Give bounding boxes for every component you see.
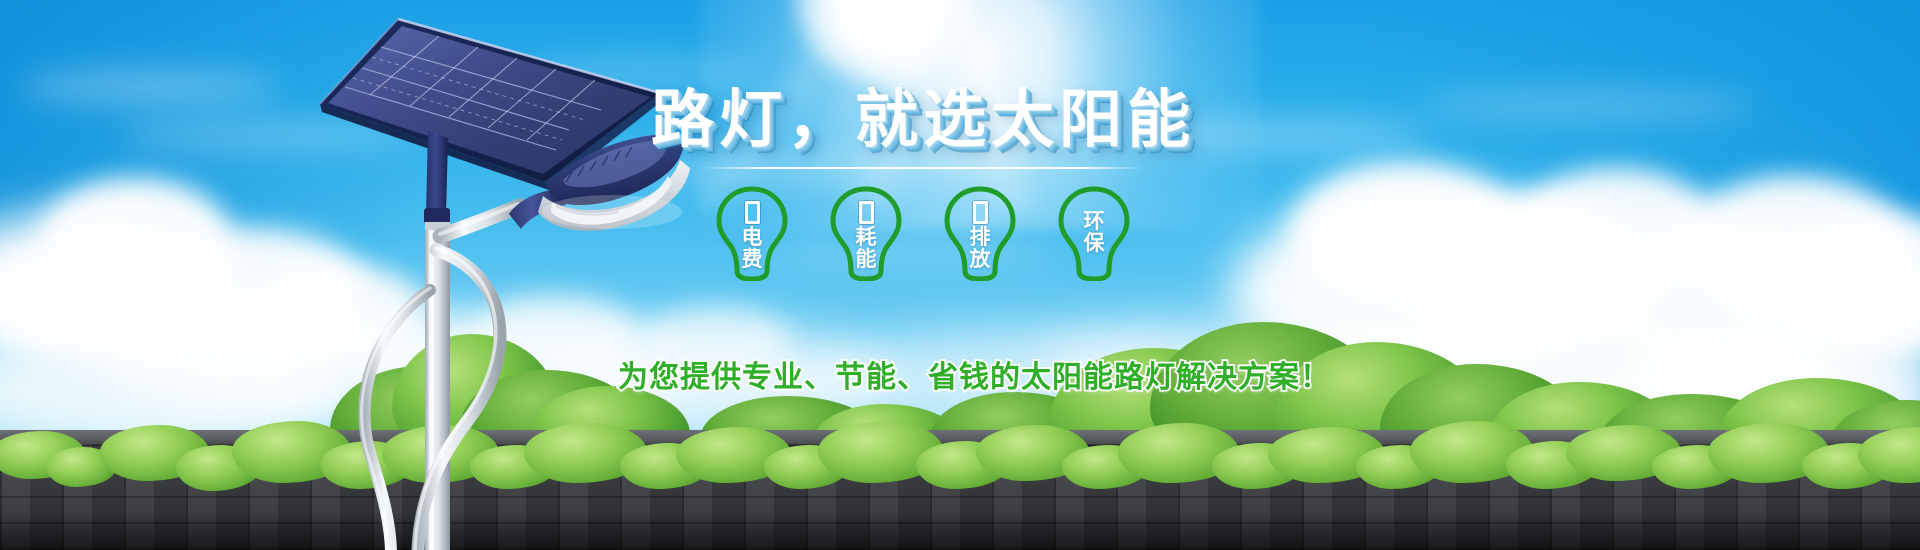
lamp-arm <box>440 204 520 236</box>
badge-haoneng[interactable]: 耗能 <box>823 185 909 281</box>
badge-dianfei[interactable]: 电费 <box>709 185 795 281</box>
badge-zero-glyph <box>745 201 760 224</box>
badge-zero-glyph <box>973 201 988 224</box>
tagline: 为您提供专业、节能、省钱的太阳能路灯解决方案！ <box>618 352 1228 396</box>
solar-street-light-banner: 路灯，就选太阳能 电费 耗能 <box>0 0 1920 550</box>
badge-paifang[interactable]: 排放 <box>937 185 1023 281</box>
badge-label: 环保 <box>1083 211 1106 255</box>
panel-mount <box>424 131 450 224</box>
page-title: 路灯，就选太阳能 <box>618 88 1228 151</box>
badge-label: 排放 <box>969 227 992 271</box>
badge-zero-glyph <box>859 201 874 224</box>
badge-huanbao[interactable]: 环保 <box>1051 185 1137 281</box>
feature-badges: 电费 耗能 排放 <box>618 185 1228 281</box>
badge-label: 电费 <box>741 227 764 271</box>
title-divider <box>703 167 1143 169</box>
badge-label: 耗能 <box>855 227 878 271</box>
headline-block: 路灯，就选太阳能 电费 耗能 <box>618 88 1228 281</box>
